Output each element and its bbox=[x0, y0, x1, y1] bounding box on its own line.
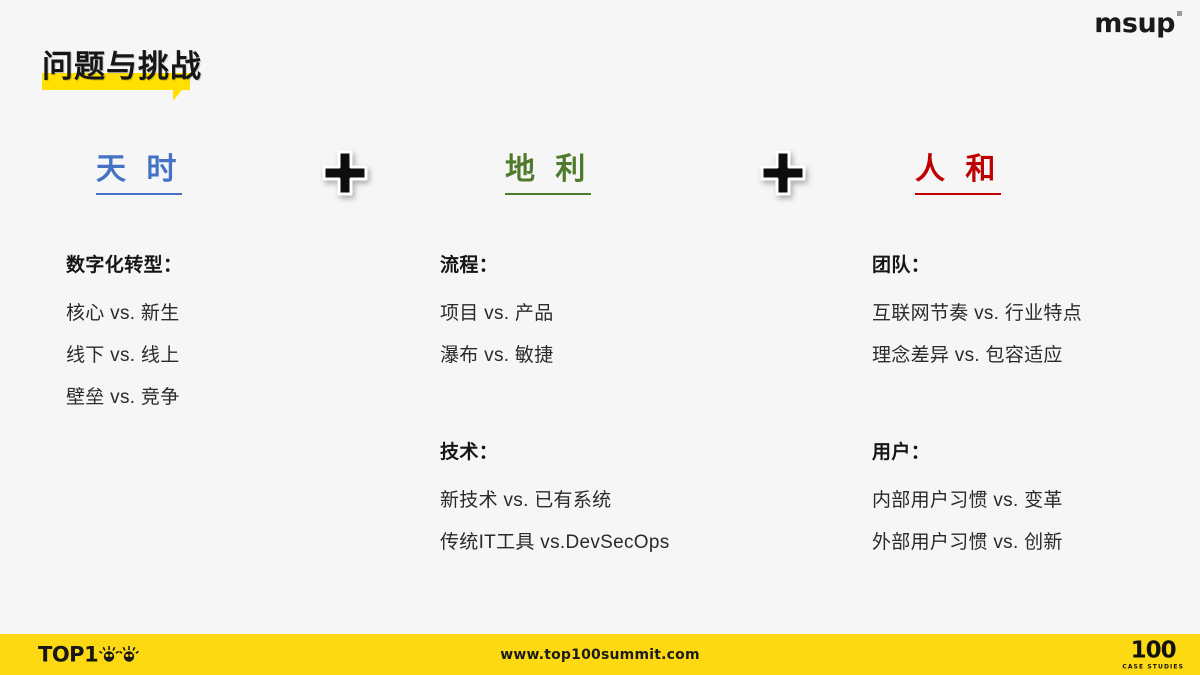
list-item: 内部用户习惯 vs. 变革 bbox=[872, 480, 1182, 522]
case-studies-logo: 100 CASE STUDIES bbox=[1122, 639, 1184, 670]
msup-logo-text: msup bbox=[1094, 10, 1175, 37]
list-item: 瀑布 vs. 敏捷 bbox=[440, 335, 840, 377]
title-highlight-tail-icon bbox=[173, 90, 182, 101]
plus-icon bbox=[322, 150, 368, 196]
list-item: 传统IT工具 vs.DevSecOps bbox=[440, 522, 840, 564]
page-title: 问题与挑战 bbox=[42, 48, 202, 94]
list-item: 项目 vs. 产品 bbox=[440, 293, 840, 335]
plus-icon bbox=[760, 150, 806, 196]
group-title: 团队： bbox=[872, 252, 1182, 280]
group-block: 流程： 项目 vs. 产品 瀑布 vs. 敏捷 bbox=[440, 252, 840, 377]
group-title: 流程： bbox=[440, 252, 840, 280]
pillar-label-dili: 地 利 bbox=[505, 150, 591, 195]
column-renhe: 团队： 互联网节奏 vs. 行业特点 理念差异 vs. 包容适应 用户： 内部用… bbox=[872, 252, 1182, 564]
pillar-label-tianshi: 天 时 bbox=[96, 150, 182, 195]
footer-url[interactable]: www.top100summit.com bbox=[0, 647, 1200, 663]
list-item: 理念差异 vs. 包容适应 bbox=[872, 335, 1182, 377]
group-block: 数字化转型： 核心 vs. 新生 线下 vs. 线上 壁垒 vs. 竞争 bbox=[66, 252, 406, 419]
pillar-heading-dili: 地 利 bbox=[505, 150, 591, 199]
msup-logo: msup bbox=[1094, 10, 1182, 40]
list-item: 核心 vs. 新生 bbox=[66, 293, 406, 335]
group-title: 数字化转型： bbox=[66, 252, 406, 280]
slide-root: msup 问题与挑战 天 时 地 利 人 和 bbox=[0, 0, 1200, 675]
list-item: 壁垒 vs. 竞争 bbox=[66, 377, 406, 419]
column-tianshi: 数字化转型： 核心 vs. 新生 线下 vs. 线上 壁垒 vs. 竞争 bbox=[66, 252, 406, 419]
column-dili: 流程： 项目 vs. 产品 瀑布 vs. 敏捷 技术： 新技术 vs. 已有系统… bbox=[440, 252, 840, 564]
case-studies-number: 100 bbox=[1122, 639, 1184, 662]
list-item: 外部用户习惯 vs. 创新 bbox=[872, 522, 1182, 564]
group-block: 团队： 互联网节奏 vs. 行业特点 理念差异 vs. 包容适应 bbox=[872, 252, 1182, 377]
list-item: 新技术 vs. 已有系统 bbox=[440, 480, 840, 522]
list-item: 线下 vs. 线上 bbox=[66, 335, 406, 377]
footer-bar: TOP1 bbox=[0, 634, 1200, 675]
group-title: 用户： bbox=[872, 439, 1182, 467]
trademark-icon bbox=[1177, 11, 1182, 16]
case-studies-caption: CASE STUDIES bbox=[1122, 664, 1184, 670]
pillars-row: 天 时 地 利 人 和 bbox=[0, 150, 1200, 210]
pillar-label-renhe: 人 和 bbox=[915, 150, 1001, 195]
pillar-heading-tianshi: 天 时 bbox=[96, 150, 182, 199]
group-block: 用户： 内部用户习惯 vs. 变革 外部用户习惯 vs. 创新 bbox=[872, 439, 1182, 564]
list-item: 互联网节奏 vs. 行业特点 bbox=[872, 293, 1182, 335]
pillar-heading-renhe: 人 和 bbox=[915, 150, 1001, 199]
page-title-text: 问题与挑战 bbox=[42, 49, 202, 84]
group-title: 技术： bbox=[440, 439, 840, 467]
group-block: 技术： 新技术 vs. 已有系统 传统IT工具 vs.DevSecOps bbox=[440, 439, 840, 564]
